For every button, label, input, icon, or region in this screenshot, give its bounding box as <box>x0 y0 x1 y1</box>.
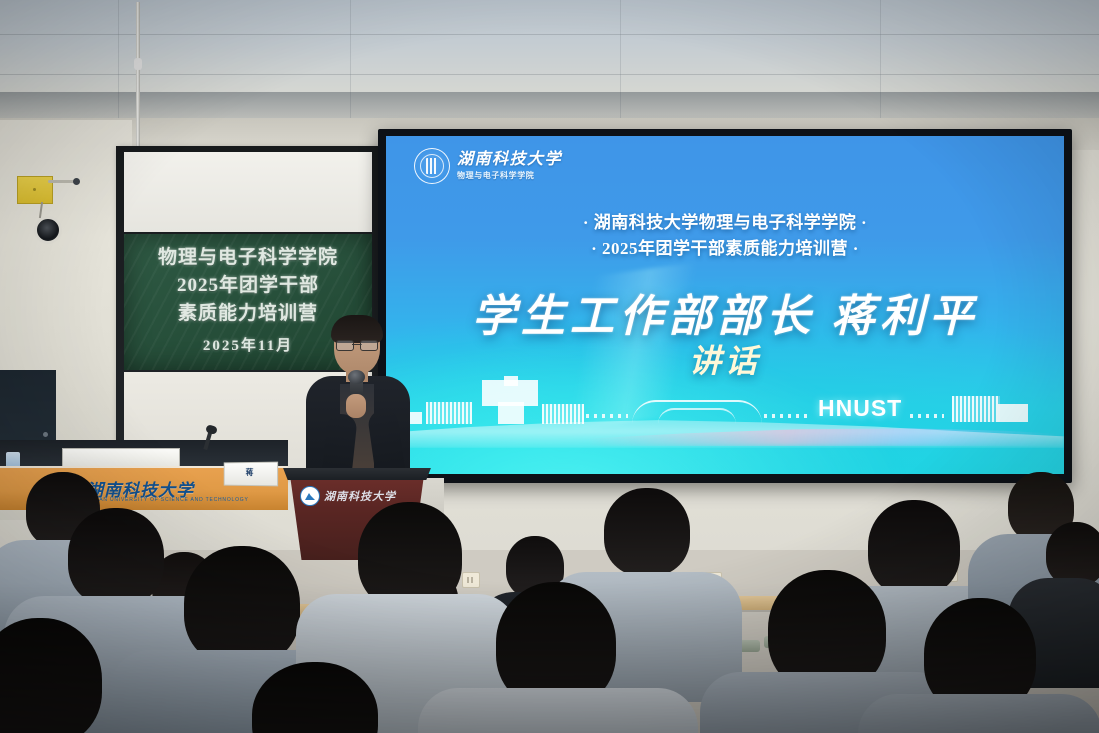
whiteboard-upper-panel <box>124 152 372 232</box>
building-icon <box>952 396 1000 422</box>
tree-dots <box>910 414 944 418</box>
name-card: 蒋 <box>224 462 278 487</box>
slide-subtitle-2: · 2025年团学干部素质能力培训营 · <box>386 234 1064 259</box>
hnust-wordmark: HNUST <box>818 395 902 422</box>
blackboard-line-2: 2025年团学干部 <box>124 270 372 297</box>
building-icon <box>998 404 1028 422</box>
ceiling-speaker-icon <box>34 216 62 244</box>
slide-main-title: 学生工作部部长 蒋利平 <box>386 280 1064 344</box>
wall-rod <box>48 180 76 183</box>
head <box>604 488 690 576</box>
building-icon <box>426 402 472 424</box>
head <box>868 500 960 596</box>
hnust-emblem-icon <box>414 148 450 184</box>
slide-subtitle-1: · 湖南科技大学物理与电子科学学院 · <box>386 208 1064 233</box>
presenter-hand <box>346 394 366 418</box>
shoulders <box>418 688 698 733</box>
slide-logo-lockup: 湖南科技大学 物理与电子科学学院 <box>414 148 562 184</box>
building-icon <box>498 402 524 424</box>
lectern-banner-text: 湖南科技大学 <box>324 488 396 504</box>
head <box>68 508 164 606</box>
building-icon <box>504 376 518 386</box>
slide-logo-college: 物理与电子科学学院 <box>457 172 562 180</box>
power-outlet-icon <box>462 572 480 588</box>
microphone-head-icon <box>348 370 365 384</box>
desk-banner-english: HUNAN UNIVERSITY OF SCIENCE AND TECHNOLO… <box>86 497 249 503</box>
bridge-arch-icon <box>658 408 736 424</box>
shoulders <box>858 694 1099 733</box>
hnust-emblem-icon <box>300 486 320 506</box>
name-card-text: 蒋 <box>225 467 277 478</box>
sprinkler-joint <box>134 58 142 70</box>
head <box>1046 522 1099 586</box>
led-screen[interactable]: 湖南科技大学 物理与电子科学学院 · 湖南科技大学物理与电子科学学院 · · 2… <box>386 136 1064 474</box>
slide-logo-text: 湖南科技大学 物理与电子科学学院 <box>457 152 562 180</box>
slide-logo-university: 湖南科技大学 <box>457 152 562 168</box>
presenter-hair <box>331 315 383 343</box>
tree-dots <box>764 414 808 418</box>
lectern-top <box>280 468 434 480</box>
lecture-hall-scene: 物理与电子科学学院 2025年团学干部 素质能力培训营 2025年11月 湖南科… <box>0 0 1099 733</box>
building-icon <box>542 404 584 424</box>
slide-skyline-graphic: HNUST <box>386 370 1064 448</box>
head <box>184 546 300 666</box>
sprinkler-pipe <box>136 2 140 150</box>
blackboard-line-1: 物理与电子科学学院 <box>124 242 372 269</box>
glasses-icon <box>336 340 378 350</box>
tree-dots <box>586 414 628 418</box>
